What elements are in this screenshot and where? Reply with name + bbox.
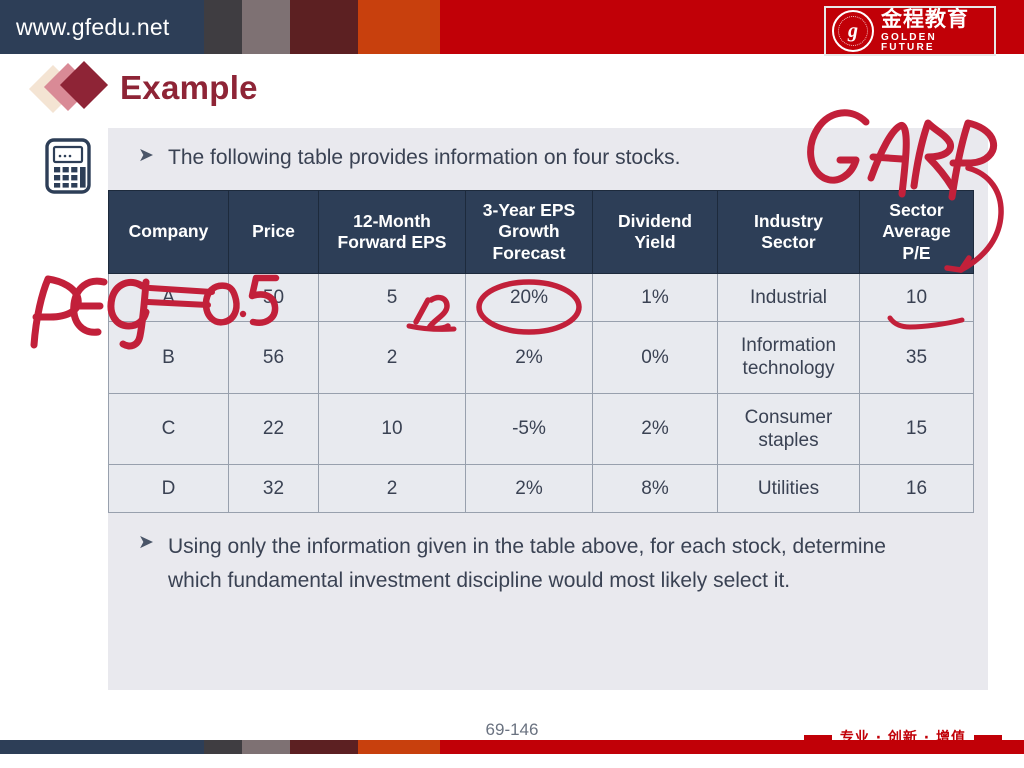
cell-industry-sector: Consumer staples xyxy=(718,393,860,464)
logo-seal-letter: g xyxy=(848,21,858,41)
cell-forward-eps: 2 xyxy=(319,322,466,393)
logo-seal-icon: g xyxy=(832,10,874,52)
cell-sector-avg-pe: 10 xyxy=(860,274,974,322)
cell-growth-forecast: 2% xyxy=(466,464,593,512)
diamond-decoration-icon xyxy=(36,62,114,114)
table-header-row: Company Price 12-Month Forward EPS 3-Yea… xyxy=(109,191,974,274)
footer-tagline: 专业 · 创新 · 增值 xyxy=(804,727,1002,747)
stocks-table: Company Price 12-Month Forward EPS 3-Yea… xyxy=(108,190,974,513)
col-header-dividend-yield: Dividend Yield xyxy=(593,191,718,274)
table-row: D 32 2 2% 8% Utilities 16 xyxy=(109,464,974,512)
col-header-forward-eps-line1: 12-Month xyxy=(353,211,431,231)
annotation-peg-letter-e xyxy=(74,281,104,332)
intro-bullet-text: The following table provides information… xyxy=(168,143,680,173)
table-body: A 50 5 20% 1% Industrial 10 B 56 2 2% 0%… xyxy=(109,274,974,513)
cell-company: C xyxy=(109,393,229,464)
col-header-company: Company xyxy=(109,191,229,274)
col-header-pe-line2: Average xyxy=(882,221,950,241)
cell-growth-forecast: -5% xyxy=(466,393,593,464)
col-header-industry-line1: Industry xyxy=(754,211,823,231)
col-header-industry-line2: Sector xyxy=(761,232,815,252)
col-header-price: Price xyxy=(229,191,319,274)
col-header-dividend-line2: Yield xyxy=(634,232,675,252)
question-bullet-text: Using only the information given in the … xyxy=(168,530,938,598)
brand-logo: g 金程教育 GOLDEN FUTURE xyxy=(824,6,996,56)
table-row: C 22 10 -5% 2% Consumer staples 15 xyxy=(109,393,974,464)
bottom-band-dark-segment xyxy=(204,740,242,754)
logo-text-block: 金程教育 GOLDEN FUTURE xyxy=(881,9,994,53)
bullet-arrow-icon: ➤ xyxy=(138,143,168,168)
cell-company: A xyxy=(109,274,229,322)
cell-industry-sector: Information technology xyxy=(718,322,860,393)
cell-sector-avg-pe: 35 xyxy=(860,322,974,393)
logo-chinese-name: 金程教育 xyxy=(881,9,994,30)
calculator-icon xyxy=(44,138,92,199)
cell-sector-avg-pe: 16 xyxy=(860,464,974,512)
cell-forward-eps: 10 xyxy=(319,393,466,464)
top-band-maroon-segment xyxy=(290,0,358,54)
annotation-peg-letter-p xyxy=(34,279,78,345)
footer-dash-left-icon xyxy=(804,735,832,740)
col-header-forward-eps: 12-Month Forward EPS xyxy=(319,191,466,274)
cell-price: 56 xyxy=(229,322,319,393)
table-header: Company Price 12-Month Forward EPS 3-Yea… xyxy=(109,191,974,274)
cell-dividend-yield: 1% xyxy=(593,274,718,322)
col-header-growth-line2: Growth xyxy=(498,221,559,241)
cell-growth-forecast: 2% xyxy=(466,322,593,393)
table-row: B 56 2 2% 0% Information technology 35 xyxy=(109,322,974,393)
cell-industry-sector: Industrial xyxy=(718,274,860,322)
col-header-forward-eps-line2: Forward EPS xyxy=(338,232,447,252)
col-header-pe-line3: P/E xyxy=(902,243,930,263)
question-bullet: ➤ Using only the information given in th… xyxy=(138,530,938,598)
cell-growth-forecast: 20% xyxy=(466,274,593,322)
footer-tagline-text: 专业 · 创新 · 增值 xyxy=(840,727,966,747)
site-url-label: www.gfedu.net xyxy=(0,14,169,41)
page-title: Example xyxy=(120,69,258,107)
cell-company: D xyxy=(109,464,229,512)
cell-company: B xyxy=(109,322,229,393)
bottom-band-orange-segment xyxy=(358,740,440,754)
col-header-industry-sector: Industry Sector xyxy=(718,191,860,274)
slide-title-row: Example xyxy=(36,62,258,114)
top-band-gray-segment xyxy=(242,0,290,54)
bottom-band-navy-segment xyxy=(0,740,204,754)
col-header-sector-avg-pe: Sector Average P/E xyxy=(860,191,974,274)
bottom-band-gray-segment xyxy=(242,740,290,754)
col-header-dividend-line1: Dividend xyxy=(618,211,692,231)
cell-forward-eps: 2 xyxy=(319,464,466,512)
top-band-navy-segment: www.gfedu.net xyxy=(0,0,204,54)
cell-price: 22 xyxy=(229,393,319,464)
col-header-growth-forecast: 3-Year EPS Growth Forecast xyxy=(466,191,593,274)
footer-dash-right-icon xyxy=(974,735,1002,740)
intro-bullet: ➤ The following table provides informati… xyxy=(138,143,838,173)
top-band-orange-segment xyxy=(358,0,440,54)
cell-dividend-yield: 0% xyxy=(593,322,718,393)
col-header-growth-line1: 3-Year EPS xyxy=(483,200,575,220)
logo-english-name: GOLDEN FUTURE xyxy=(881,33,994,53)
cell-price: 32 xyxy=(229,464,319,512)
col-header-pe-line1: Sector xyxy=(889,200,943,220)
cell-dividend-yield: 8% xyxy=(593,464,718,512)
bullet-arrow-icon: ➤ xyxy=(138,530,168,555)
cell-industry-sector: Utilities xyxy=(718,464,860,512)
col-header-company-line1: Company xyxy=(129,221,209,241)
cell-price: 50 xyxy=(229,274,319,322)
cell-dividend-yield: 2% xyxy=(593,393,718,464)
cell-sector-avg-pe: 15 xyxy=(860,393,974,464)
col-header-price-line1: Price xyxy=(252,221,295,241)
top-band-dark-segment xyxy=(204,0,242,54)
table-row: A 50 5 20% 1% Industrial 10 xyxy=(109,274,974,322)
col-header-growth-line3: Forecast xyxy=(493,243,566,263)
slide: www.gfedu.net g 金程教育 GOLDEN FUTURE Examp… xyxy=(0,0,1024,768)
cell-forward-eps: 5 xyxy=(319,274,466,322)
bottom-band-maroon-segment xyxy=(290,740,358,754)
